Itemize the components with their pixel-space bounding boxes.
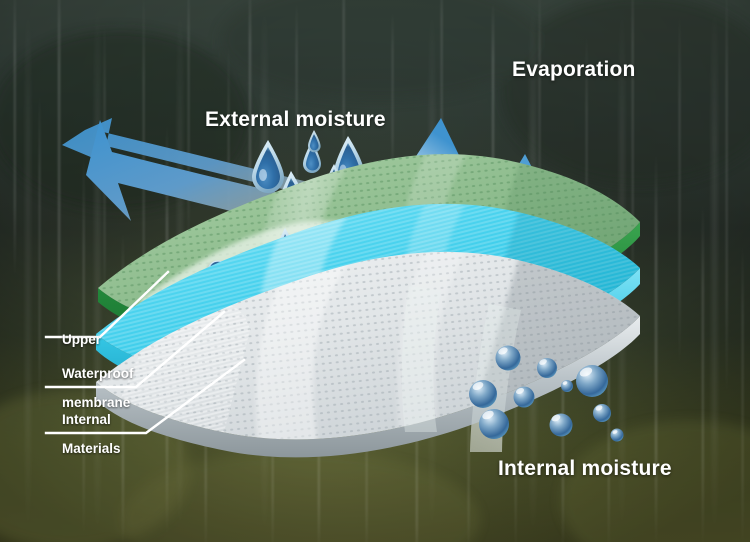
scene-svg (0, 0, 750, 542)
vapor-bubble (550, 413, 573, 436)
diagram-canvas: Evaporation External moisture Internal m… (0, 0, 750, 542)
vapor-bubble (469, 380, 497, 408)
vapor-bubble (561, 380, 573, 392)
vapor-bubble (514, 387, 535, 408)
vapor-bubble (479, 409, 509, 439)
vapor-bubble (593, 404, 611, 422)
vapor-bubble (496, 346, 521, 371)
vapor-bubble (576, 365, 608, 397)
vapor-bubble (611, 429, 624, 442)
vapor-bubble (537, 358, 557, 378)
